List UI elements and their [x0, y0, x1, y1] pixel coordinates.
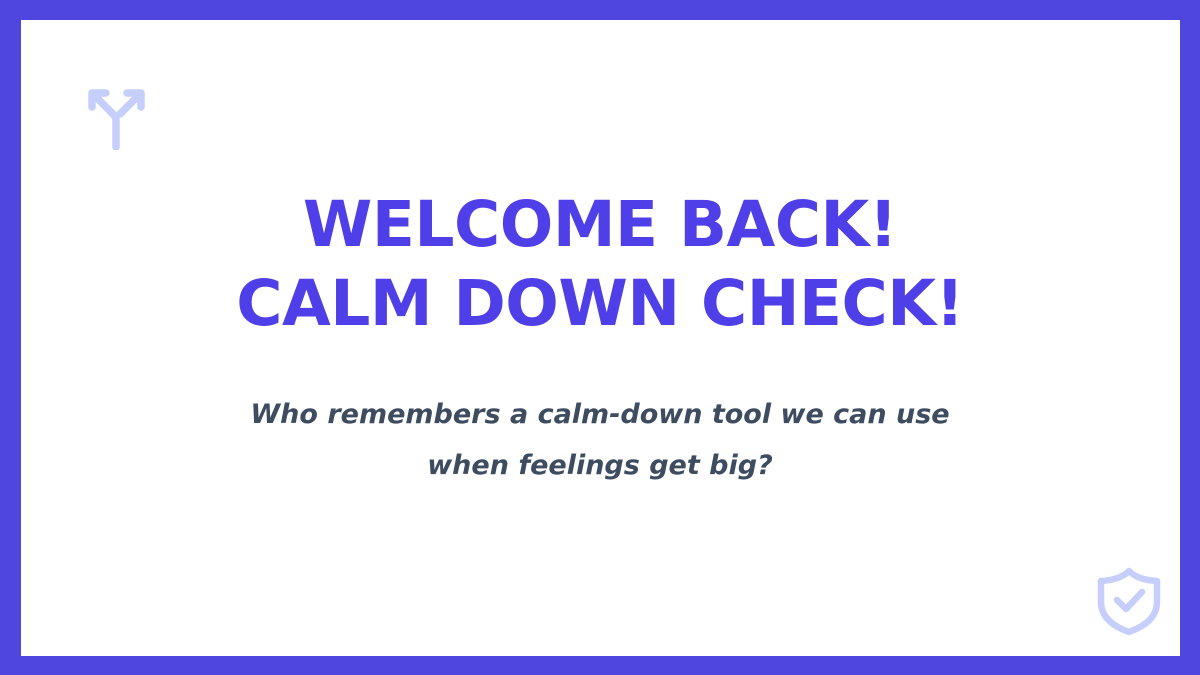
- slide-content: WELCOME BACK! CALM DOWN CHECK! Who remem…: [0, 0, 1200, 675]
- page-title-line-1: WELCOME BACK!: [236, 185, 964, 264]
- slide-canvas: WELCOME BACK! CALM DOWN CHECK! Who remem…: [0, 0, 1200, 675]
- page-title-line-2: CALM DOWN CHECK!: [236, 264, 964, 343]
- page-subtitle: Who remembers a calm-down tool we can us…: [220, 389, 980, 491]
- page-title: WELCOME BACK! CALM DOWN CHECK!: [236, 185, 964, 343]
